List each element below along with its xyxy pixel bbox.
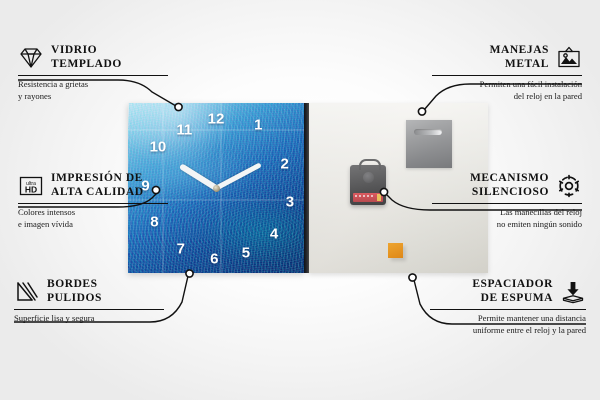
callout-divider (432, 75, 582, 76)
metal-hanger-plate (406, 120, 452, 168)
callout-title: MANEJASMETAL (490, 44, 549, 71)
diamond-icon (18, 46, 44, 70)
callout-title: IMPRESIÓN DEALTA CALIDAD (51, 172, 144, 199)
ultra-hd-icon: ultra HD (18, 174, 44, 198)
clock-center-hub (213, 185, 220, 192)
clock-numeral: 4 (270, 226, 278, 241)
gear-icon (556, 174, 582, 198)
callout-title: VIDRIOTEMPLADO (51, 44, 122, 71)
foam-spacer-pad (388, 243, 403, 258)
callout-description: Resistencia a grietasy rayones (18, 79, 168, 102)
callout-vidrio-templado[interactable]: VIDRIOTEMPLADO Resistencia a grietasy ra… (18, 44, 168, 102)
callout-title: MECANISMOSILENCIOSO (470, 172, 549, 199)
clock-numeral: 7 (177, 242, 185, 257)
callout-description: Colores intensose imagen vívida (18, 207, 168, 230)
callout-espaciador-de-espuma[interactable]: ESPACIADORDE ESPUMA Permite mantener una… (430, 278, 586, 336)
clock-numeral: 1 (254, 118, 262, 133)
polished-edges-icon (14, 280, 40, 304)
callout-impresion-alta-calidad[interactable]: ultra HD IMPRESIÓN DEALTA CALIDAD Colore… (18, 172, 168, 230)
clock-numeral: 3 (286, 194, 294, 209)
hanger-keyhole-slot (414, 129, 442, 135)
callout-divider (14, 309, 164, 310)
infographic-canvas: 12 1 2 3 4 5 6 7 8 9 10 11 (0, 0, 600, 400)
callout-mecanismo-silencioso[interactable]: MECANISMOSILENCIOSO Las manecillas del r… (432, 172, 582, 230)
callout-title: ESPACIADORDE ESPUMA (472, 278, 553, 305)
callout-manejas-metal[interactable]: MANEJASMETAL Permiten una fácil instalac… (432, 44, 582, 102)
callout-divider (18, 203, 168, 204)
callout-bordes-pulidos[interactable]: BORDESPULIDOS Superficie lisa y segura (14, 278, 164, 325)
battery-label (355, 195, 375, 197)
clock-numeral: 12 (208, 112, 225, 127)
callout-divider (432, 203, 582, 204)
clock-mechanism (350, 165, 386, 205)
wall-frame-icon (556, 46, 582, 70)
clock-numeral: 10 (150, 140, 167, 155)
svg-text:HD: HD (25, 184, 37, 194)
callout-divider (430, 309, 586, 310)
callout-title: BORDESPULIDOS (47, 278, 102, 305)
callout-description: Las manecillas del relojno emiten ningún… (432, 207, 582, 230)
callout-description: Permite mantener una distanciauniforme e… (430, 313, 586, 336)
clock-numeral: 6 (210, 252, 218, 267)
battery (353, 193, 383, 202)
mechanism-spindle (363, 172, 374, 183)
callout-description: Permiten una fácil instalacióndel reloj … (432, 79, 582, 102)
connector-dot (409, 274, 416, 281)
clock-numeral: 2 (280, 157, 288, 172)
mechanism-handle (359, 159, 381, 170)
callout-divider (18, 75, 168, 76)
clock-numeral: 11 (176, 123, 192, 138)
foam-spacer-icon (560, 280, 586, 304)
callout-description: Superficie lisa y segura (14, 313, 164, 325)
clock-numeral: 5 (242, 245, 250, 260)
